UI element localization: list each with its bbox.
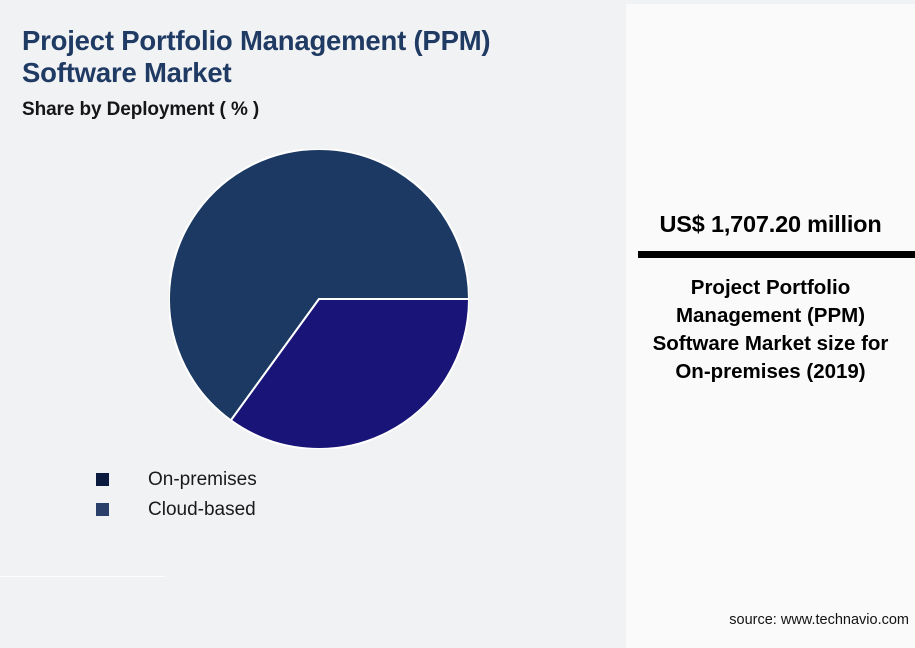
legend-item-label: Cloud-based bbox=[148, 500, 256, 519]
page-title: Project Portfolio Management (PPM) Softw… bbox=[22, 25, 602, 89]
legend-swatch-icon bbox=[96, 473, 109, 486]
callout-caption: Project Portfolio Management (PPM) Softw… bbox=[634, 274, 907, 386]
pie-chart-svg bbox=[169, 149, 469, 449]
callout-panel: US$ 1,707.20 million Project Portfolio M… bbox=[626, 0, 915, 648]
legend-item-cloud-based[interactable]: Cloud-based bbox=[96, 494, 516, 524]
source-note: source: www.technavio.com bbox=[626, 612, 909, 628]
legend-swatch-icon bbox=[96, 503, 109, 516]
divider bbox=[0, 576, 165, 577]
chart-panel: Project Portfolio Management (PPM) Softw… bbox=[0, 0, 626, 648]
chart-legend: On-premises Cloud-based bbox=[96, 464, 516, 524]
callout-underline bbox=[638, 251, 915, 258]
legend-item-on-premises[interactable]: On-premises bbox=[96, 464, 516, 494]
panel-top-edge bbox=[626, 0, 915, 4]
chart-subtitle: Share by Deployment ( % ) bbox=[22, 99, 259, 121]
callout-value: US$ 1,707.20 million bbox=[626, 211, 915, 238]
chart-figure: Project Portfolio Management (PPM) Softw… bbox=[0, 0, 915, 648]
legend-item-label: On-premises bbox=[148, 470, 257, 489]
pie-chart bbox=[169, 149, 469, 449]
